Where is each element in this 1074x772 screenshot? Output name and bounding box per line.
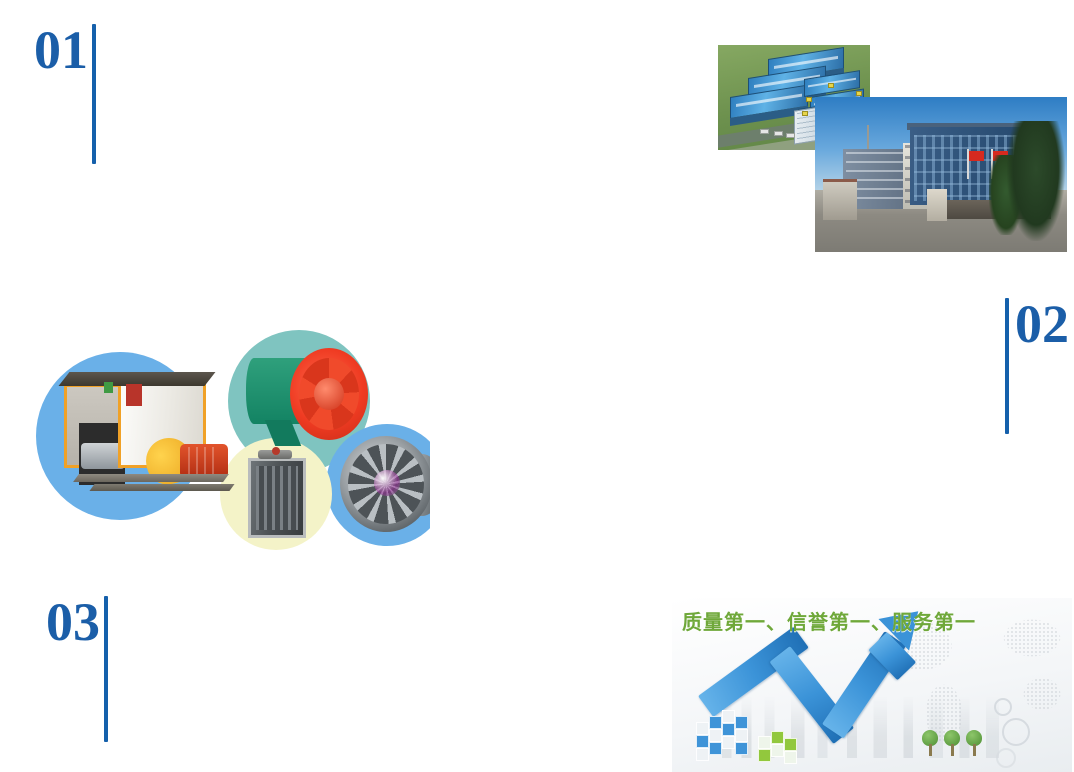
photo-tree xyxy=(1007,121,1065,241)
render-marker-tab xyxy=(802,111,808,116)
bubble-decoration xyxy=(994,698,1012,716)
banner-slogan-text: 质量第一、信誉第一、服务第一 xyxy=(682,606,976,635)
section-rule-01 xyxy=(92,24,96,164)
section-number-03: 03 xyxy=(46,596,100,648)
fan-green-label xyxy=(104,382,113,393)
render-truck xyxy=(760,129,769,134)
damper-release-knob xyxy=(272,447,280,455)
render-truck xyxy=(786,133,795,138)
section-marker-03: 03 xyxy=(46,596,108,742)
bubble-decoration xyxy=(996,748,1016,768)
tree-icon xyxy=(922,730,938,756)
bubble-decoration xyxy=(1002,718,1030,746)
fan-base-rail xyxy=(89,484,234,491)
photo-guard-house xyxy=(823,179,857,220)
product-fire-damper xyxy=(244,450,310,542)
tree-icon xyxy=(966,730,982,756)
photo-flag xyxy=(967,149,969,179)
office-building-photo xyxy=(815,97,1067,252)
fan-electric-motor xyxy=(180,444,228,478)
section-rule-02 xyxy=(1005,298,1009,434)
section-rule-03 xyxy=(104,596,108,742)
product-range-collage xyxy=(30,320,430,550)
rubik-cube-green-icon xyxy=(758,726,798,764)
section-number-01: 01 xyxy=(34,24,88,76)
damper-blades xyxy=(256,466,298,530)
fan-base-rail xyxy=(73,474,229,482)
damper-frame xyxy=(248,458,306,538)
section-marker-02: 02 xyxy=(1005,298,1069,434)
product-box-type-centrifugal-fan xyxy=(58,356,228,506)
metal-fan-hub xyxy=(374,470,400,496)
render-truck xyxy=(774,131,783,136)
page-canvas: 01 xyxy=(0,0,1074,772)
photo-gate-pillar xyxy=(927,189,947,221)
section-marker-01: 01 xyxy=(34,24,96,164)
render-marker-tab xyxy=(828,83,834,88)
fan-cabinet-side xyxy=(64,384,122,468)
fan-control-panel xyxy=(126,384,142,406)
render-marker-tab xyxy=(856,91,862,96)
trees-icon xyxy=(922,730,982,756)
axial-fan-hub xyxy=(314,378,344,410)
growth-quality-banner: 质量第一、信誉第一、服务第一 xyxy=(672,598,1072,772)
render-marker-tab xyxy=(806,97,812,102)
section-number-02: 02 xyxy=(1015,298,1069,350)
tree-icon xyxy=(944,730,960,756)
rubik-cube-blue-icon xyxy=(696,708,754,762)
product-metal-duct-axial-fan xyxy=(336,432,430,538)
